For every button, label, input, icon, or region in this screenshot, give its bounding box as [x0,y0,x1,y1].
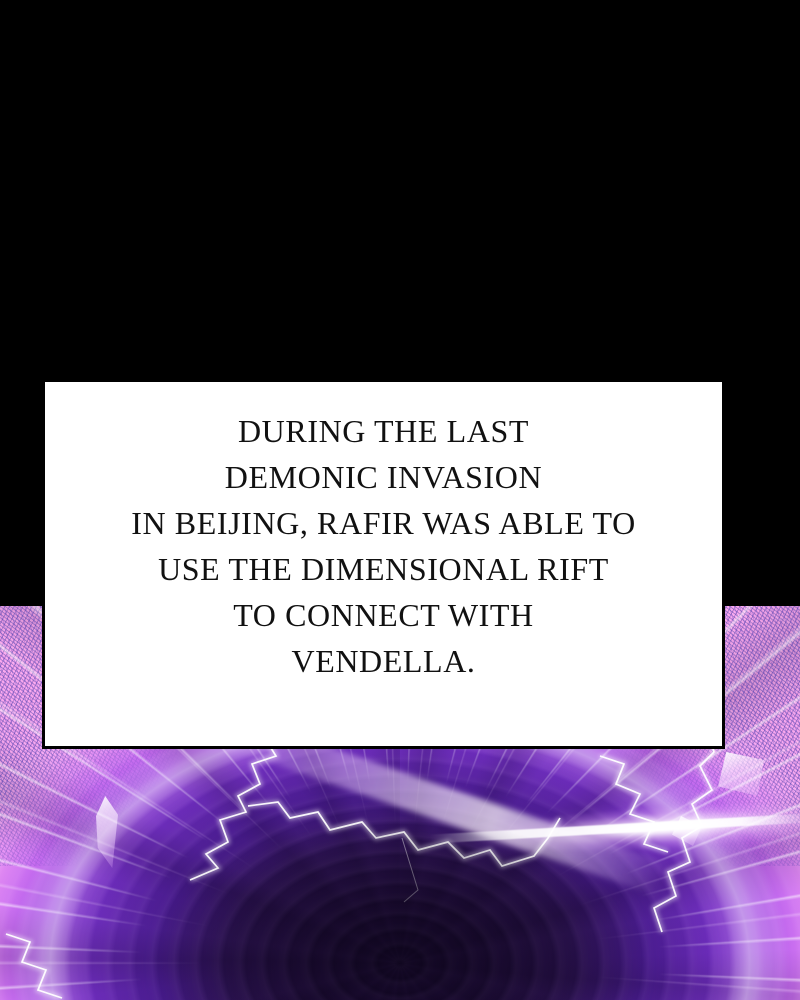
energy-flash-core [430,813,800,843]
caption-line: TO CONNECT WITH [45,592,722,638]
caption-line: IN BEIJING, RAFIR WAS ABLE TO [45,500,722,546]
caption-line: DEMONIC INVASION [45,454,722,500]
energy-flash-beam [371,790,800,872]
caption-text: DURING THE LAST DEMONIC INVASION IN BEIJ… [45,408,722,720]
caption-line: VENDELLA. [45,638,722,684]
crystal-shard [718,752,764,796]
crystal-shard [96,796,118,868]
caption-line: USE THE DIMENSIONAL RIFT [45,546,722,592]
caption-box: DURING THE LAST DEMONIC INVASION IN BEIJ… [42,379,725,749]
caption-line: DURING THE LAST [45,408,722,454]
comic-panel: DURING THE LAST DEMONIC INVASION IN BEIJ… [0,0,800,1000]
crystal-shard [672,816,702,846]
